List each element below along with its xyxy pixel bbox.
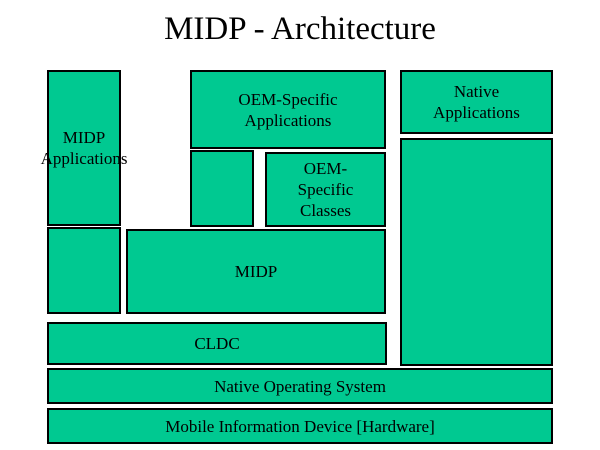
block-label: MIDP Applications bbox=[41, 127, 128, 169]
block-label: Native Operating System bbox=[214, 376, 386, 397]
block-oem-specific-applications: OEM-Specific Applications bbox=[190, 70, 386, 149]
block-label: CLDC bbox=[194, 333, 239, 354]
block-label: OEM-Specific Applications bbox=[238, 89, 337, 131]
block-midp-applications: MIDP Applications bbox=[47, 70, 121, 226]
block-midp: MIDP bbox=[126, 229, 386, 314]
block-oem-specific-classes: OEM- Specific Classes bbox=[265, 152, 386, 227]
block-label: OEM- Specific Classes bbox=[298, 158, 354, 221]
block-native-applications-sub bbox=[400, 138, 553, 366]
block-oem-applications-sub bbox=[190, 150, 254, 227]
block-cldc: CLDC bbox=[47, 322, 387, 365]
block-midp-applications-sub bbox=[47, 227, 121, 314]
diagram-canvas: MIDP - Architecture MIDP Applications OE… bbox=[0, 0, 600, 450]
block-label: MIDP bbox=[235, 261, 278, 282]
block-label: Mobile Information Device [Hardware] bbox=[165, 416, 435, 437]
block-mobile-information-device: Mobile Information Device [Hardware] bbox=[47, 408, 553, 444]
block-native-operating-system: Native Operating System bbox=[47, 368, 553, 404]
page-title: MIDP - Architecture bbox=[0, 8, 600, 50]
block-label: Native Applications bbox=[433, 81, 520, 123]
block-native-applications: Native Applications bbox=[400, 70, 553, 134]
